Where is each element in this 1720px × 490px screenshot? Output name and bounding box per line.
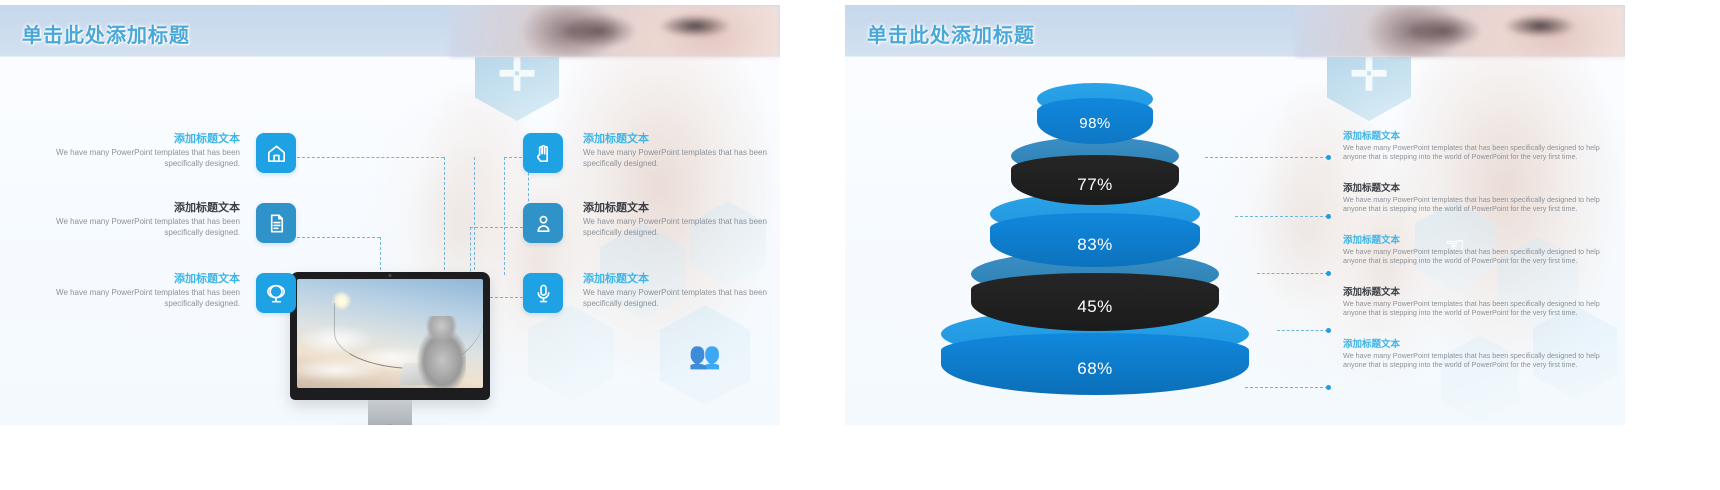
monitor-chin:  — [290, 421, 490, 425]
slide-header-bar: 单击此处添加标题 — [0, 5, 780, 57]
right-list-item-5-body: We have many PowerPoint templates that h… — [1343, 351, 1605, 370]
tier-4-label: 45% — [971, 297, 1219, 317]
right-item-1-body: We have many PowerPoint templates that h… — [583, 148, 773, 169]
user-icon — [532, 212, 555, 235]
right-list-item-2-body: We have many PowerPoint templates that h… — [1343, 195, 1605, 214]
people-hex-icon: 👥 — [660, 305, 750, 405]
right-list-item-2: 添加标题文本 We have many PowerPoint templates… — [1343, 182, 1605, 214]
left-item-1-text: 添加标题文本 We have many PowerPoint templates… — [50, 132, 240, 169]
pyramid-tier-1[interactable]: 98% — [1037, 83, 1153, 157]
right-item-1-tile-hand[interactable] — [523, 133, 563, 173]
connector-line — [470, 227, 528, 228]
connector-line — [504, 157, 505, 275]
right-list-item-1-heading: 添加标题文本 — [1343, 130, 1605, 143]
left-item-2-body: We have many PowerPoint templates that h… — [50, 217, 240, 238]
connector-line — [444, 157, 445, 275]
tier-2-label: 77% — [1011, 175, 1179, 195]
right-list-item-5: 添加标题文本 We have many PowerPoint templates… — [1343, 338, 1605, 370]
monitor-bezel:  — [290, 272, 490, 400]
right-item-1-text: 添加标题文本 We have many PowerPoint templates… — [583, 132, 773, 169]
apple-logo-icon:  — [387, 423, 393, 426]
pyramid-chart: 68% 45% 83% 77% — [905, 57, 1285, 417]
right-list-item-5-heading: 添加标题文本 — [1343, 338, 1605, 351]
left-item-2-text: 添加标题文本 We have many PowerPoint templates… — [50, 201, 240, 238]
document-icon — [265, 212, 288, 235]
right-item-2-tile-user[interactable] — [523, 203, 563, 243]
right-list-item-3-heading: 添加标题文本 — [1343, 234, 1605, 247]
right-list-item-3-body: We have many PowerPoint templates that h… — [1343, 247, 1605, 266]
home-icon — [265, 142, 288, 165]
connector-line — [282, 157, 444, 158]
connector-line — [282, 237, 380, 238]
left-item-1-heading: 添加标题文本 — [50, 132, 240, 147]
hexagon-plate — [528, 305, 614, 401]
page-title: 单击此处添加标题 — [867, 19, 1035, 48]
right-list-item-1: 添加标题文本 We have many PowerPoint templates… — [1343, 130, 1605, 162]
tier-5-label: 68% — [941, 359, 1249, 379]
right-item-2-text: 添加标题文本 We have many PowerPoint templates… — [583, 201, 773, 238]
connector-dot — [1326, 385, 1331, 390]
slide-right: ✛ ☜ 68% — [845, 5, 1625, 425]
right-list-item-4-heading: 添加标题文本 — [1343, 286, 1605, 299]
left-item-1-body: We have many PowerPoint templates that h… — [50, 148, 240, 169]
right-list-item-2-heading: 添加标题文本 — [1343, 182, 1605, 195]
left-item-3-body: We have many PowerPoint templates that h… — [50, 288, 240, 309]
slide-left: ✛ 👥 — [0, 5, 780, 425]
connector-line — [380, 237, 381, 275]
left-item-2-heading: 添加标题文本 — [50, 201, 240, 216]
right-item-2-heading: 添加标题文本 — [583, 201, 773, 216]
right-item-3-body: We have many PowerPoint templates that h… — [583, 288, 773, 309]
left-item-3-text: 添加标题文本 We have many PowerPoint templates… — [50, 272, 240, 309]
right-item-1-heading: 添加标题文本 — [583, 132, 773, 147]
slide-divider — [780, 0, 845, 490]
left-item-3-tile-globe[interactable] — [256, 273, 296, 313]
webcam-icon — [389, 274, 392, 277]
connector-dot — [1326, 214, 1331, 219]
right-list-item-4: 添加标题文本 We have many PowerPoint templates… — [1343, 286, 1605, 318]
header-photo-eye — [1495, 11, 1585, 41]
right-item-3-heading: 添加标题文本 — [583, 272, 773, 287]
tier-3-label: 83% — [990, 235, 1200, 255]
tier-1-label: 98% — [1037, 115, 1153, 132]
page-title: 单击此处添加标题 — [22, 19, 190, 48]
right-list-item-1-body: We have many PowerPoint templates that h… — [1343, 143, 1605, 162]
hand-icon — [532, 142, 555, 165]
left-item-3-heading: 添加标题文本 — [50, 272, 240, 287]
left-item-1-tile-home[interactable] — [256, 133, 296, 173]
person-in-photo — [410, 316, 466, 388]
slide-header-bar: 单击此处添加标题 — [845, 5, 1625, 57]
right-item-3-tile-microphone[interactable] — [523, 273, 563, 313]
right-item-2-body: We have many PowerPoint templates that h… — [583, 217, 773, 238]
connector-dot — [1326, 328, 1331, 333]
computer-monitor:  — [290, 272, 490, 425]
connector-line — [474, 157, 475, 275]
left-item-2-tile-document[interactable] — [256, 203, 296, 243]
right-list-item-3: 添加标题文本 We have many PowerPoint templates… — [1343, 234, 1605, 266]
connector-dot — [1326, 271, 1331, 276]
slide-deck: ✛ 👥 — [0, 0, 1720, 490]
monitor-screen-image — [297, 279, 483, 388]
right-item-3-text: 添加标题文本 We have many PowerPoint templates… — [583, 272, 773, 309]
connector-dot — [1326, 155, 1331, 160]
microphone-icon — [532, 282, 555, 305]
header-photo-eye — [650, 11, 740, 41]
globe-icon — [265, 282, 288, 305]
right-list-item-4-body: We have many PowerPoint templates that h… — [1343, 299, 1605, 318]
